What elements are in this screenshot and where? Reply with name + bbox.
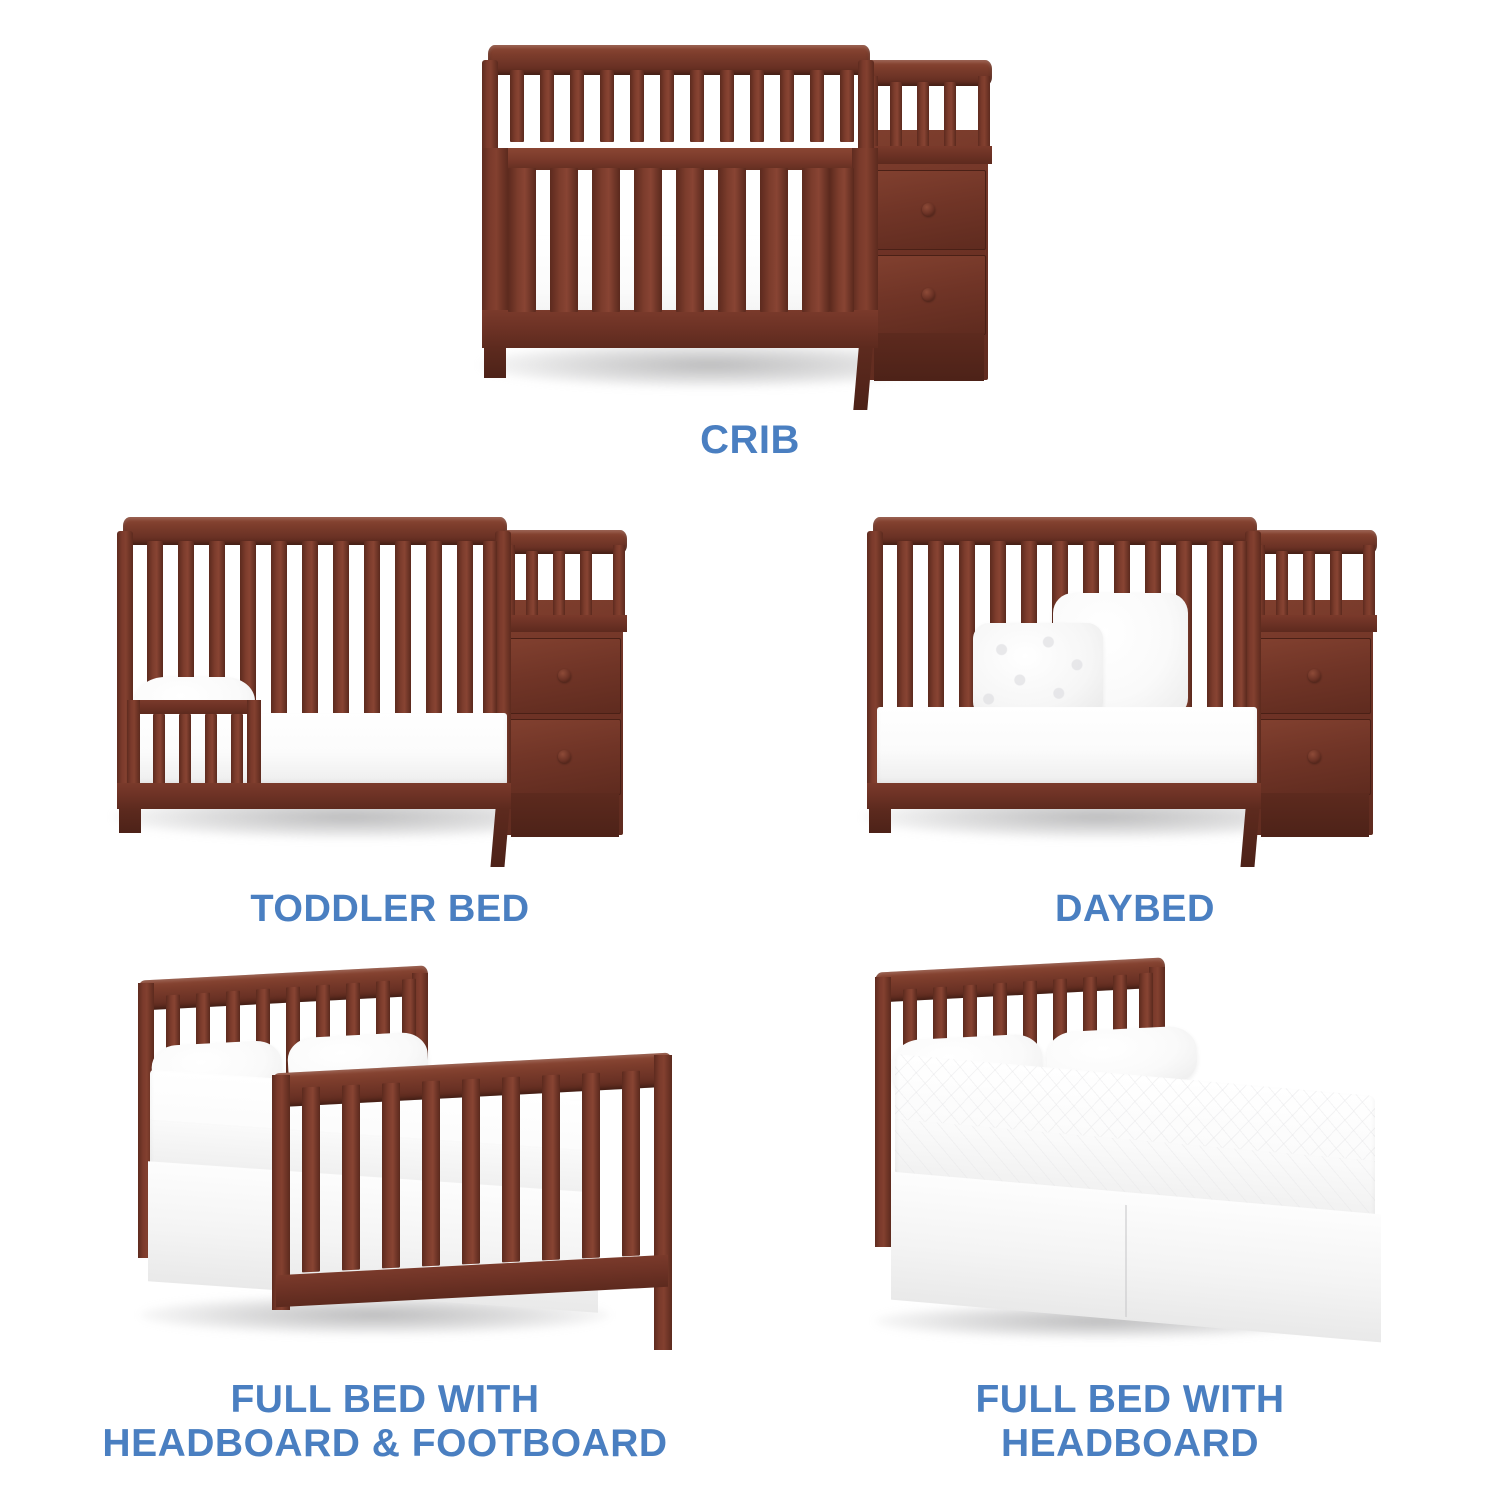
crib-back-slat [570, 70, 584, 142]
crib-back-slat [690, 70, 704, 142]
bed-back-slat [457, 541, 473, 716]
toddler-guard-slat [231, 714, 243, 786]
crib-back-slat [720, 70, 734, 142]
daybed-mattress [877, 707, 1257, 785]
bed-back-slat [426, 541, 442, 716]
bed-left-leg [869, 809, 891, 833]
bed-back-slat [395, 541, 411, 716]
changing-table-surface [501, 615, 627, 632]
changing-table-slat [917, 82, 929, 150]
bed-base-rail [867, 783, 1261, 809]
bed-back-slat [897, 541, 913, 716]
crib-back-slat [750, 70, 764, 142]
crib-figure [470, 20, 1030, 420]
infographic-canvas: CRIB [0, 0, 1500, 1500]
product-panel-full-bed-headboard [835, 955, 1415, 1355]
daybed-pillow-textured [973, 623, 1103, 718]
bed-back-slat [271, 541, 287, 716]
toddler-guard-rail-left-post [127, 700, 140, 790]
drawer-knob-icon [1308, 669, 1321, 682]
drawer-knob-icon [1308, 750, 1321, 763]
changing-table-surface [1251, 615, 1377, 632]
caption-daybed: DAYBED [885, 888, 1385, 931]
footboard-right-post [654, 1055, 672, 1350]
footboard-slat [302, 1087, 320, 1273]
crib-back-slat [780, 70, 794, 142]
crib-front-top-rail [482, 148, 878, 170]
changing-table-slat [526, 551, 538, 617]
crib-front-slat [676, 168, 704, 312]
footboard-slat [622, 1071, 640, 1257]
product-panel-toddler-bed [105, 495, 665, 875]
crib-back-slat [510, 70, 524, 142]
crib-front-slat [830, 168, 854, 312]
footboard-slat [542, 1075, 560, 1261]
bed-skirt-pleat [1125, 1205, 1127, 1317]
toddler-guard-rail-top [127, 700, 261, 714]
bed-back-slat [1233, 541, 1247, 716]
changing-table-leg [511, 793, 619, 837]
drawer-knob-icon [558, 669, 571, 682]
crib-back-slat [540, 70, 554, 142]
daybed-figure [855, 495, 1415, 875]
toddler-guard-slat [153, 714, 165, 786]
crib-back-right-post [858, 60, 874, 155]
bed-back-slat [483, 541, 497, 716]
crib-back-left-post [482, 60, 498, 155]
caption-crib: CRIB [500, 418, 1000, 463]
changing-table-leg [1261, 793, 1369, 837]
crib-front-bottom-rail [482, 310, 878, 348]
caption-full-bed-headboard-footboard: FULL BED WITH HEADBOARD & FOOTBOARD [60, 1378, 710, 1465]
bed-back-slat [302, 541, 318, 716]
crib-front-slat [550, 168, 578, 312]
full-bed-hf-figure [110, 955, 710, 1355]
bed-left-leg [119, 809, 141, 833]
changing-table-slat [580, 551, 592, 617]
changing-table-right-post [978, 76, 990, 156]
product-panel-crib [470, 20, 1030, 420]
product-panel-full-bed-headboard-footboard [110, 955, 710, 1355]
footboard-slat [422, 1081, 440, 1267]
toddler-guard-slat [205, 714, 217, 786]
crib-front-slat [592, 168, 620, 312]
footboard-slat [382, 1083, 400, 1269]
footboard-slat [502, 1077, 520, 1263]
changing-table-slat [1276, 551, 1288, 617]
bed-back-slat [1207, 541, 1223, 716]
changing-table-slat [890, 82, 902, 150]
caption-toddler-bed: TODDLER BED [140, 888, 640, 931]
toddler-guard-rail-right-post [247, 700, 261, 790]
crib-left-leg [484, 348, 506, 378]
drawer-knob-icon [558, 750, 571, 763]
toddler-bed-figure [105, 495, 665, 875]
product-panel-daybed [855, 495, 1415, 875]
bed-base-rail [117, 783, 511, 809]
changing-table-slat [553, 551, 565, 617]
crib-back-slat [660, 70, 674, 142]
changing-table-right-post [613, 545, 625, 623]
crib-front-slat [508, 168, 536, 312]
full-bed-h-figure [835, 955, 1415, 1355]
footboard-slat [462, 1079, 480, 1265]
toddler-guard-slat [179, 714, 191, 786]
footboard-slat [342, 1085, 360, 1271]
changing-table-right-post [1363, 545, 1375, 623]
crib-back-slat [630, 70, 644, 142]
changing-table-slat [1303, 551, 1315, 617]
bed-back-slat [364, 541, 380, 716]
crib-back-slat [600, 70, 614, 142]
crib-right-leg [853, 348, 872, 410]
footboard-slat [582, 1073, 600, 1259]
headboard-left-post [875, 977, 891, 1247]
crib-front-slat [802, 168, 830, 312]
crib-back-slat [840, 70, 854, 142]
changing-table-slat [944, 82, 956, 150]
bed-back-slat [333, 541, 349, 716]
changing-table-slat [1330, 551, 1342, 617]
crib-front-slat [634, 168, 662, 312]
crib-back-slat [810, 70, 824, 142]
crib-front-slat [718, 168, 746, 312]
bed-right-leg [490, 809, 509, 867]
caption-full-bed-headboard: FULL BED WITH HEADBOARD [870, 1378, 1390, 1465]
drawer-knob-icon [922, 203, 935, 216]
drawer-knob-icon [922, 288, 935, 301]
crib-front-slat [760, 168, 788, 312]
bed-right-leg [1240, 809, 1259, 867]
changing-table-leg [874, 333, 984, 381]
changing-table-surface [864, 146, 992, 164]
bed-back-slat [928, 541, 944, 716]
